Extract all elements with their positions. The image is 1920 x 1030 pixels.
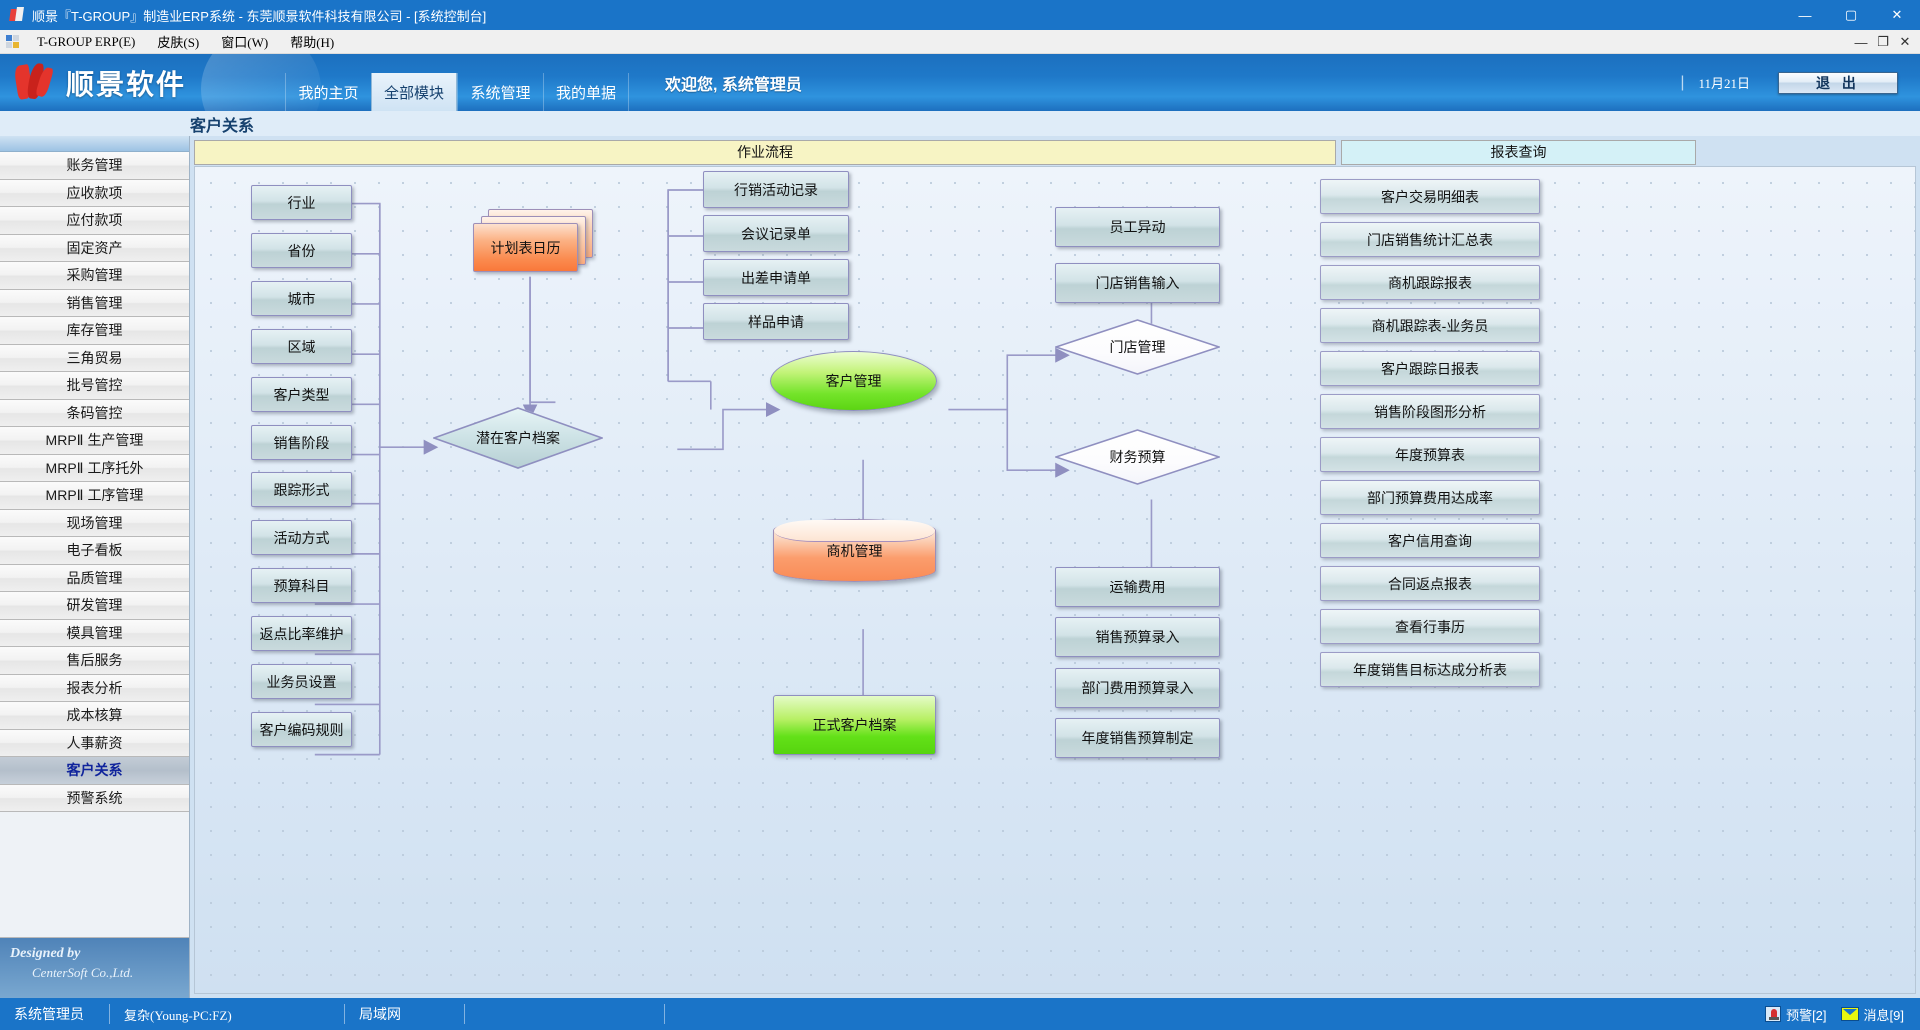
node-tracking-form[interactable]: 跟踪形式: [251, 472, 352, 507]
report-annual-budget[interactable]: 年度预算表: [1320, 437, 1540, 472]
status-user: 系统管理员: [0, 998, 110, 1030]
welcome-message: 欢迎您, 系统管理员: [665, 54, 802, 111]
sidebar-footer: Designed by CenterSoft Co.,Ltd.: [0, 938, 189, 998]
close-icon: ✕: [1892, 7, 1903, 23]
sidebar-item-shopfloor[interactable]: 现场管理: [0, 510, 189, 538]
sidebar-item-mrp2-production[interactable]: MRPⅡ 生产管理: [0, 427, 189, 455]
node-city[interactable]: 城市: [251, 281, 352, 316]
node-sales-stage[interactable]: 销售阶段: [251, 425, 352, 460]
status-computer: 复杂(Young-PC:FZ): [110, 998, 345, 1030]
minimize-icon: —: [1799, 8, 1812, 23]
brand-name: 顺景软件: [66, 63, 186, 103]
report-contract-rebate[interactable]: 合同返点报表: [1320, 566, 1540, 601]
node-activity-mode[interactable]: 活动方式: [251, 520, 352, 555]
node-store-sales-entry[interactable]: 门店销售输入: [1055, 263, 1220, 303]
node-customer-type[interactable]: 客户类型: [251, 377, 352, 412]
node-budget-subject[interactable]: 预算科目: [251, 568, 352, 603]
sidebar-item-alert-system[interactable]: 预警系统: [0, 785, 189, 813]
sidebar-item-accounting[interactable]: 账务管理: [0, 152, 189, 180]
message-icon: [1841, 1007, 1859, 1021]
node-region[interactable]: 区域: [251, 329, 352, 364]
node-industry[interactable]: 行业: [251, 185, 352, 220]
sidebar-item-costing[interactable]: 成本核算: [0, 702, 189, 730]
node-salesperson-setup[interactable]: 业务员设置: [251, 664, 352, 699]
sidebar-item-e-kanban[interactable]: 电子看板: [0, 537, 189, 565]
report-customer-credit-query[interactable]: 客户信用查询: [1320, 523, 1540, 558]
sidebar-list: 账务管理 应收款项 应付款项 固定资产 采购管理 销售管理 库存管理 三角贸易 …: [0, 152, 189, 812]
menu-item-erp[interactable]: T-GROUP ERP(E): [26, 32, 146, 52]
status-bar: 系统管理员 复杂(Young-PC:FZ) 局域网 预警[2] 消息[9]: [0, 998, 1920, 1030]
close-button[interactable]: ✕: [1874, 0, 1920, 30]
sidebar-item-rnd[interactable]: 研发管理: [0, 592, 189, 620]
tab-my-homepage[interactable]: 我的主页: [285, 73, 371, 111]
sidebar-filler: [0, 812, 189, 938]
node-business-trip-request[interactable]: 出差申请单: [703, 259, 849, 296]
report-opportunity-tracking[interactable]: 商机跟踪报表: [1320, 265, 1540, 300]
node-potential-customer-file-label: 潜在客户档案: [433, 407, 603, 469]
maximize-icon: ▢: [1845, 7, 1857, 23]
report-sales-stage-graph-analysis[interactable]: 销售阶段图形分析: [1320, 394, 1540, 429]
header-right-area: | 11月21日 退 出: [1680, 54, 1920, 111]
node-meeting-record[interactable]: 会议记录单: [703, 215, 849, 252]
band-row: 作业流程 报表查询: [190, 136, 1920, 166]
report-store-sales-summary[interactable]: 门店销售统计汇总表: [1320, 222, 1540, 257]
alarm-icon: [1765, 1006, 1781, 1022]
status-blank-1: [465, 998, 665, 1030]
node-rebate-rate[interactable]: 返点比率维护: [251, 616, 352, 651]
sidebar-item-mrp2-process[interactable]: MRPⅡ 工序管理: [0, 482, 189, 510]
sidebar-cap: [0, 136, 189, 152]
page-title-strip: 客户关系: [0, 111, 1920, 136]
menu-item-skin[interactable]: 皮肤(S): [146, 30, 210, 53]
report-customer-tracking-daily[interactable]: 客户跟踪日报表: [1320, 351, 1540, 386]
window-controls: — ▢ ✕: [1782, 0, 1920, 30]
report-dept-budget-attainment[interactable]: 部门预算费用达成率: [1320, 480, 1540, 515]
status-blank-2: [665, 998, 1765, 1030]
sidebar-item-triangular-trade[interactable]: 三角贸易: [0, 345, 189, 373]
message-indicator[interactable]: 消息[9]: [1841, 1005, 1904, 1024]
minimize-button[interactable]: —: [1782, 0, 1828, 30]
status-right-area: 预警[2] 消息[9]: [1765, 1005, 1920, 1024]
node-store-management-label: 门店管理: [1055, 319, 1220, 375]
module-sidebar: 账务管理 应收款项 应付款项 固定资产 采购管理 销售管理 库存管理 三角贸易 …: [0, 136, 190, 998]
sidebar-item-hr-payroll[interactable]: 人事薪资: [0, 730, 189, 758]
app-header: 顺景软件 我的主页 全部模块 系统管理 我的单据 欢迎您, 系统管理员 | 11…: [0, 54, 1920, 111]
node-formal-customer-file[interactable]: 正式客户档案: [773, 695, 936, 755]
message-label: 消息[9]: [1864, 1005, 1904, 1024]
window-title: 顺景『T-GROUP』制造业ERP系统 - 东莞顺景软件科技有限公司 - [系统…: [32, 6, 486, 25]
report-customer-transaction-detail[interactable]: 客户交易明细表: [1320, 179, 1540, 214]
report-opportunity-tracking-by-rep[interactable]: 商机跟踪表-业务员: [1320, 308, 1540, 343]
node-finance-budget-label: 财务预算: [1055, 429, 1220, 485]
menu-item-window[interactable]: 窗口(W): [210, 30, 279, 53]
sidebar-item-receivables[interactable]: 应收款项: [0, 180, 189, 208]
node-marketing-activity-record[interactable]: 行销活动记录: [703, 171, 849, 208]
node-finance-budget[interactable]: 财务预算: [1055, 429, 1220, 485]
sidebar-item-batch-control[interactable]: 批号管控: [0, 372, 189, 400]
sidebar-item-sales[interactable]: 销售管理: [0, 290, 189, 318]
sidebar-item-quality[interactable]: 品质管理: [0, 565, 189, 593]
page-title: 客户关系: [190, 112, 254, 136]
window-title-bar: 顺景『T-GROUP』制造业ERP系统 - 东莞顺景软件科技有限公司 - [系统…: [0, 0, 1920, 30]
main-region: 账务管理 应收款项 应付款项 固定资产 采购管理 销售管理 库存管理 三角贸易 …: [0, 136, 1920, 998]
sidebar-item-mrp2-outsourcing[interactable]: MRPⅡ 工序托外: [0, 455, 189, 483]
node-potential-customer-file[interactable]: 潜在客户档案: [433, 407, 603, 469]
sidebar-item-after-sales[interactable]: 售后服务: [0, 647, 189, 675]
mdi-minimize-button[interactable]: —: [1850, 31, 1872, 53]
maximize-button[interactable]: ▢: [1828, 0, 1874, 30]
workflow-canvas: 作业流程 报表查询: [190, 136, 1920, 998]
mdi-window-controls: — ❐ ✕: [1850, 30, 1916, 54]
alarm-indicator[interactable]: 预警[2]: [1765, 1005, 1826, 1024]
mdi-app-icon: [6, 35, 20, 49]
report-view-calendar[interactable]: 查看行事历: [1320, 609, 1540, 644]
company-logo-icon: [12, 63, 58, 103]
logout-button[interactable]: 退 出: [1778, 72, 1898, 94]
sidebar-item-crm[interactable]: 客户关系: [0, 757, 189, 785]
designed-by-label: Designed by: [10, 946, 189, 962]
node-sample-request[interactable]: 样品申请: [703, 303, 849, 340]
node-plan-calendar[interactable]: 计划表日历: [473, 223, 578, 272]
app-logo-icon: [8, 6, 26, 24]
sidebar-item-fixed-assets[interactable]: 固定资产: [0, 235, 189, 263]
designer-name: CenterSoft Co.,Ltd.: [32, 965, 189, 981]
node-annual-sales-budget[interactable]: 年度销售预算制定: [1055, 718, 1220, 758]
sidebar-item-barcode-control[interactable]: 条码管控: [0, 400, 189, 428]
report-annual-sales-target-analysis[interactable]: 年度销售目标达成分析表: [1320, 652, 1540, 687]
menu-bar: T-GROUP ERP(E) 皮肤(S) 窗口(W) 帮助(H) — ❐ ✕: [0, 30, 1920, 54]
alarm-label: 预警[2]: [1786, 1005, 1826, 1024]
sidebar-item-inventory[interactable]: 库存管理: [0, 317, 189, 345]
node-store-management[interactable]: 门店管理: [1055, 319, 1220, 375]
sidebar-item-report-analysis[interactable]: 报表分析: [0, 675, 189, 703]
node-province[interactable]: 省份: [251, 233, 352, 268]
tab-all-modules[interactable]: 全部模块: [371, 73, 457, 111]
brand-area: 顺景软件: [0, 54, 285, 111]
node-employee-change[interactable]: 员工异动: [1055, 207, 1220, 247]
header-nav-tabs: 我的主页 全部模块 系统管理 我的单据: [285, 54, 629, 111]
menu-item-help[interactable]: 帮助(H): [279, 30, 345, 53]
node-customer-management[interactable]: 客户管理: [770, 351, 937, 411]
flowchart-area: 行业 省份 城市 区域 客户类型 销售阶段 跟踪形式 活动方式 预算科目 返点比…: [194, 166, 1916, 994]
tab-system-management[interactable]: 系统管理: [457, 73, 543, 111]
band-workflow: 作业流程: [194, 140, 1336, 165]
tab-my-documents[interactable]: 我的单据: [543, 73, 629, 111]
node-sales-budget-entry[interactable]: 销售预算录入: [1055, 617, 1220, 657]
node-opportunity-management[interactable]: 商机管理: [773, 519, 936, 582]
band-reports: 报表查询: [1341, 140, 1696, 165]
header-separator: |: [1680, 74, 1684, 92]
node-transport-expense[interactable]: 运输费用: [1055, 567, 1220, 607]
node-customer-code-rule[interactable]: 客户编码规则: [251, 712, 352, 747]
node-dept-expense-budget-entry[interactable]: 部门费用预算录入: [1055, 668, 1220, 708]
mdi-close-button[interactable]: ✕: [1894, 31, 1916, 53]
sidebar-item-mould[interactable]: 模具管理: [0, 620, 189, 648]
status-network: 局域网: [345, 998, 465, 1030]
mdi-restore-button[interactable]: ❐: [1872, 31, 1894, 53]
header-date: 11月21日: [1698, 73, 1750, 92]
sidebar-item-payables[interactable]: 应付款项: [0, 207, 189, 235]
sidebar-item-purchasing[interactable]: 采购管理: [0, 262, 189, 290]
